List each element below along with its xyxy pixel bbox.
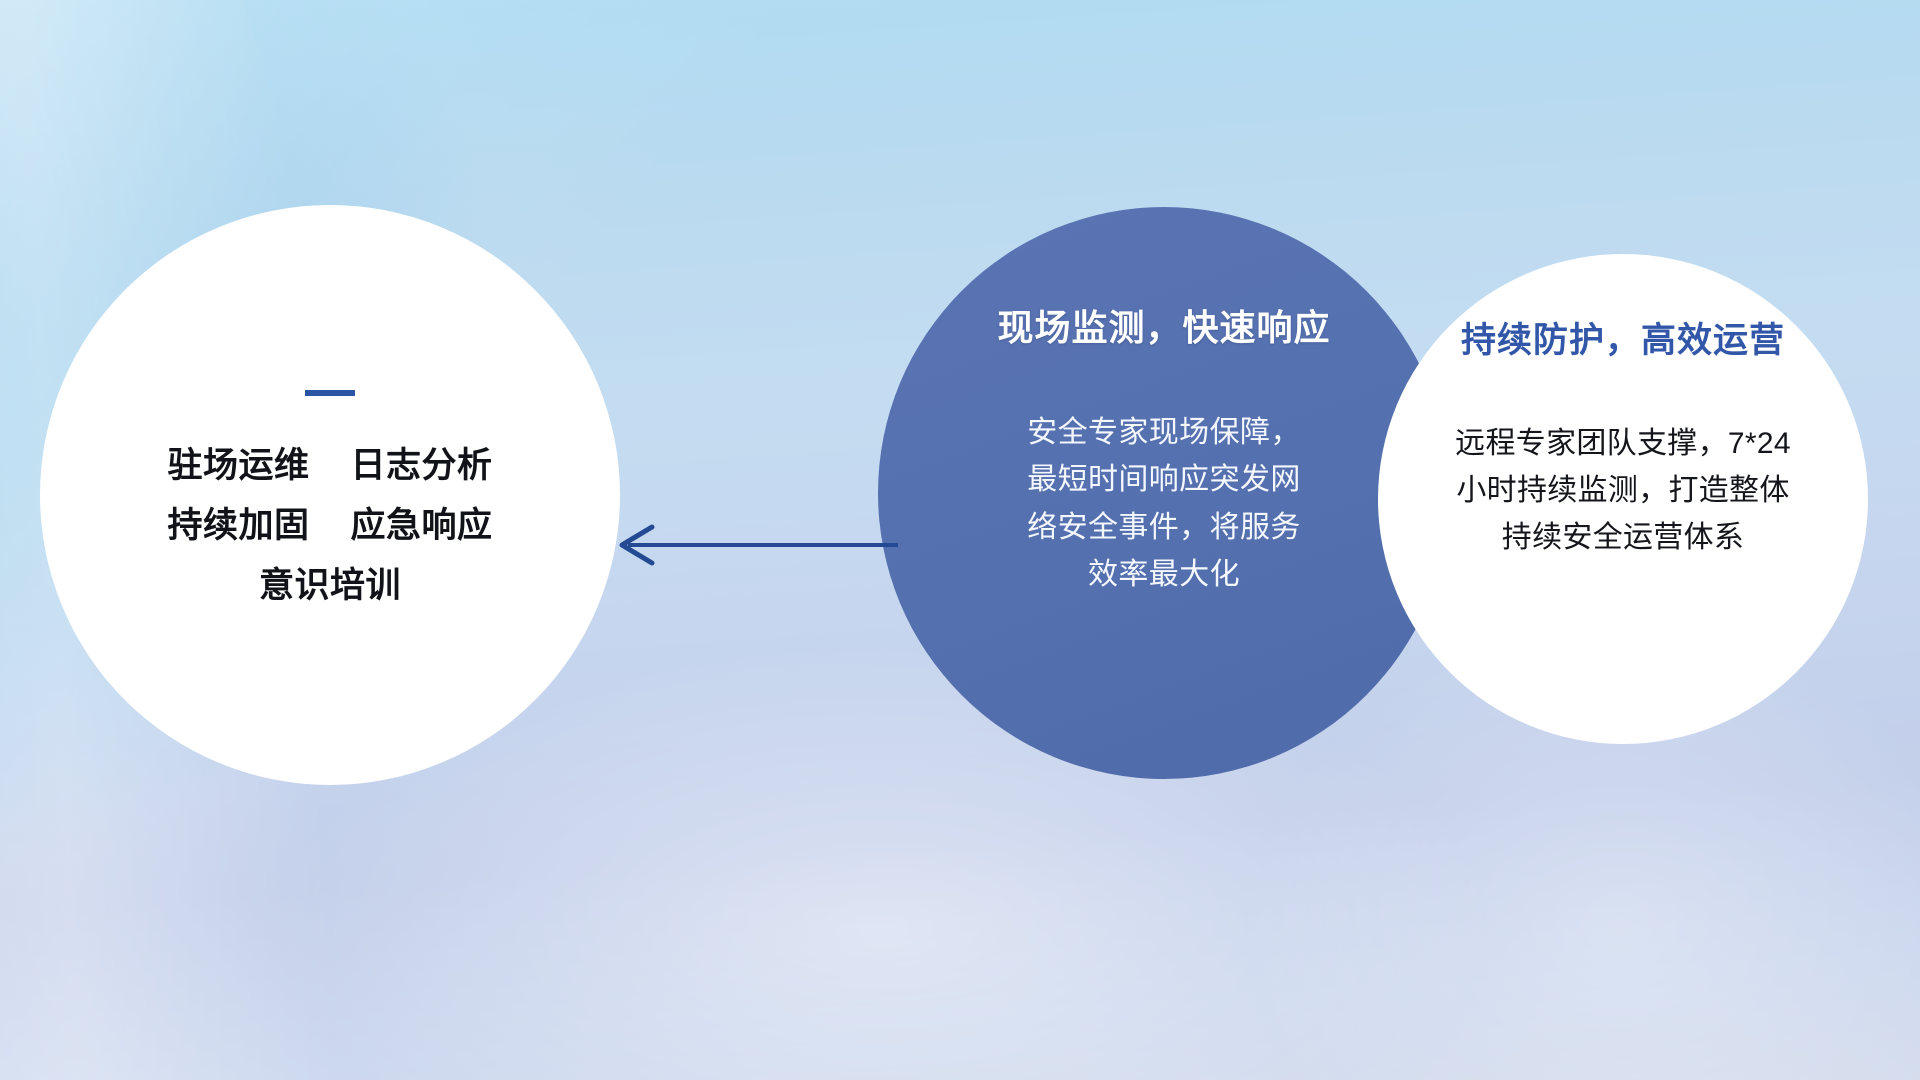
right-circle-body-line: 小时持续监测，打造整体 (1414, 468, 1832, 515)
middle-circle-body-line: 最短时间响应突发网 (999, 456, 1329, 503)
list-item: 持续加固 应急响应 (168, 496, 493, 556)
right-circle-body-line: 远程专家团队支撑，7*24 (1414, 421, 1832, 468)
middle-circle-body-line: 安全专家现场保障， (999, 409, 1329, 456)
list-item: 意识培训 (168, 556, 493, 616)
divider-dash-icon (305, 390, 355, 396)
right-white-circle[interactable]: 持续防护，高效运营 远程专家团队支撑，7*24 小时持续监测，打造整体 持续安全… (1378, 254, 1868, 744)
right-circle-heading: 持续防护，高效运营 (1461, 312, 1785, 363)
arrow-left-icon (600, 505, 900, 585)
left-white-circle[interactable]: 驻场运维 日志分析 持续加固 应急响应 意识培训 (40, 205, 620, 785)
middle-blue-circle[interactable]: 现场监测，快速响应 安全专家现场保障， 最短时间响应突发网 络安全事件，将服务 … (878, 207, 1450, 779)
middle-circle-body-line: 络安全事件，将服务 (999, 504, 1329, 551)
middle-circle-body-line: 效率最大化 (999, 551, 1329, 598)
middle-circle-body: 安全专家现场保障， 最短时间响应突发网 络安全事件，将服务 效率最大化 (999, 409, 1329, 599)
middle-circle-heading: 现场监测，快速响应 (997, 299, 1330, 351)
slide-canvas: 现场监测，快速响应 安全专家现场保障， 最短时间响应突发网 络安全事件，将服务 … (0, 0, 1920, 1080)
left-circle-capability-list: 驻场运维 日志分析 持续加固 应急响应 意识培训 (168, 436, 493, 617)
right-circle-body: 远程专家团队支撑，7*24 小时持续监测，打造整体 持续安全运营体系 (1414, 421, 1832, 561)
right-circle-body-line: 持续安全运营体系 (1414, 515, 1832, 562)
list-item: 驻场运维 日志分析 (168, 436, 493, 496)
